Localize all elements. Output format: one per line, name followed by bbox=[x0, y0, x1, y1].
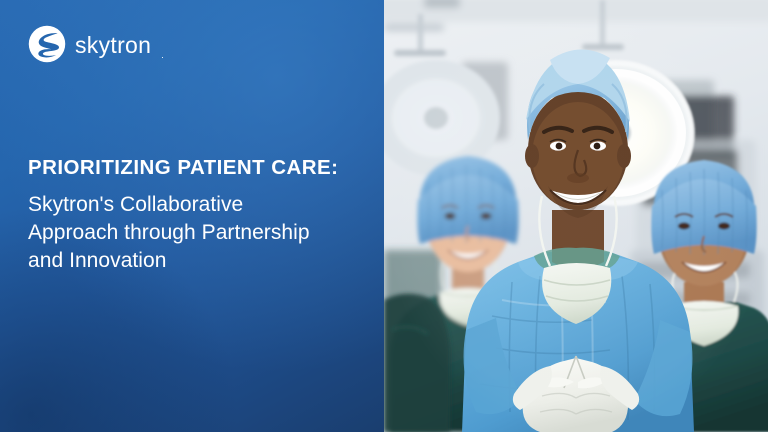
subtitle-line-2: Approach through Partnership bbox=[28, 219, 364, 247]
hero-photo bbox=[384, 0, 768, 432]
left-content-panel: skytron . PRIORITIZING PATIENT CARE: Sky… bbox=[0, 0, 384, 432]
skytron-circle-swoosh-logo bbox=[28, 25, 66, 63]
subtitle-line-3: and Innovation bbox=[28, 247, 364, 275]
headline-block: PRIORITIZING PATIENT CARE: Skytron's Col… bbox=[28, 155, 364, 275]
marketing-banner: skytron . PRIORITIZING PATIENT CARE: Sky… bbox=[0, 0, 768, 432]
operating-room-photo-illustration bbox=[384, 0, 768, 432]
page-title: PRIORITIZING PATIENT CARE: bbox=[28, 155, 364, 180]
trademark-icon: . bbox=[161, 51, 164, 60]
brand-wordmark: skytron bbox=[75, 34, 151, 57]
subtitle-line-1: Skytron's Collaborative bbox=[28, 191, 364, 219]
page-subtitle: Skytron's Collaborative Approach through… bbox=[28, 191, 364, 275]
brand-logo[interactable]: skytron . bbox=[28, 25, 164, 63]
